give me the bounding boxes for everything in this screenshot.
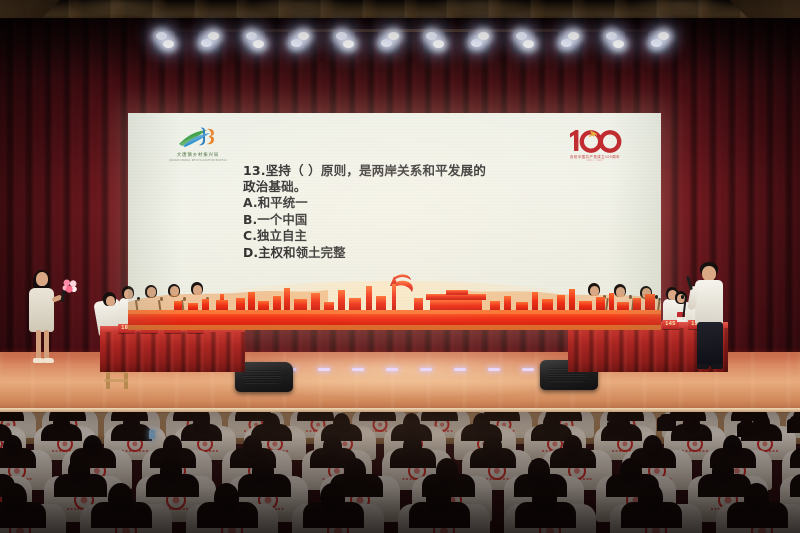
audience-member-head — [723, 435, 742, 458]
audience-member-head — [214, 483, 239, 512]
audience-member-head — [108, 483, 133, 512]
question-option-a: A.和平统一 — [243, 195, 573, 211]
cpc-centenary-100-icon — [567, 129, 623, 153]
audience-member-head — [436, 458, 458, 484]
audience-member-head — [473, 413, 490, 434]
audience-member-head — [563, 435, 582, 458]
audience-member-head — [543, 413, 560, 434]
stage-light-lamp — [208, 32, 219, 40]
emblem-subtext: 1921 — 2021 — [557, 160, 633, 162]
stage-light-lamp — [163, 40, 174, 48]
audience-member-head — [160, 458, 182, 484]
skirt-pleat-texture — [100, 332, 245, 372]
stage-light-lamp — [201, 39, 212, 47]
audience-member-head — [344, 458, 366, 484]
host-trousers — [697, 322, 723, 366]
audience-member-head — [193, 413, 210, 434]
host-shoe — [43, 358, 54, 363]
audience-member-head — [483, 435, 502, 458]
microphone-head — [681, 295, 684, 299]
stage-light-lamp — [613, 40, 624, 48]
audience-member-head — [403, 413, 420, 434]
audience-member-head — [712, 458, 734, 484]
table-skirt — [100, 332, 245, 372]
audience-member-head — [252, 458, 274, 484]
microphone-flower-decoration — [62, 278, 78, 294]
stage-light-lamp — [471, 39, 482, 47]
audience-member-head — [620, 458, 642, 484]
footlight — [488, 368, 500, 371]
footlight — [386, 368, 398, 371]
stage-light-lamp — [568, 32, 579, 40]
stage-light-lamp — [343, 40, 354, 48]
host-shirt — [695, 280, 723, 324]
stage-light-lamp — [561, 39, 572, 47]
audience-member-head — [323, 435, 342, 458]
stage-light-lamp — [433, 40, 444, 48]
audience-member-head — [683, 413, 700, 434]
footlight — [352, 368, 364, 371]
speaker-grill — [243, 370, 281, 384]
contestant-head — [106, 296, 115, 306]
question-text-block: 13.坚持（ ）原则，是两岸关系和平发展的 政治基础。 A.和平统一 B.一个中… — [243, 163, 573, 260]
footlight — [420, 368, 432, 371]
host-shoe — [711, 364, 723, 369]
stool-brace — [104, 379, 128, 382]
footlight — [522, 368, 534, 371]
footlight — [318, 368, 330, 371]
question-stem-line-2: 政治基础。 — [243, 179, 573, 195]
stage-light-lamp — [381, 39, 392, 47]
host-leg — [36, 330, 41, 360]
stage-light-lamp — [658, 32, 669, 40]
audience-member-head — [638, 483, 663, 512]
audience-member-head — [320, 483, 345, 512]
audience-member-head — [753, 413, 770, 434]
host-head — [702, 266, 716, 281]
audience-member-head — [333, 413, 350, 434]
host-leg — [44, 330, 49, 360]
audience-area — [0, 412, 800, 533]
audience-member-head — [403, 435, 422, 458]
logo-chinese-text: 大唐镇乡村振兴局 — [154, 152, 242, 158]
stage-light-lamp — [253, 40, 264, 48]
host-dress — [29, 288, 54, 332]
emblem-chinese-text: 庆祝中国共产党成立100周年 — [557, 154, 633, 159]
audience-member-head — [744, 483, 769, 512]
audience-member-head — [243, 435, 262, 458]
stage-light-lamp — [606, 32, 617, 40]
raised-hand-silhouette — [660, 414, 673, 430]
stage-light-lamp — [336, 32, 347, 40]
raised-hand-silhouette — [610, 418, 623, 434]
audience-member-head — [83, 435, 102, 458]
raised-hand-silhouette — [790, 416, 800, 432]
stage-light-lamp — [388, 32, 399, 40]
j-wave-logo-icon — [176, 125, 220, 151]
audience-phone-screen — [149, 430, 155, 439]
stage-light-lamp — [246, 32, 257, 40]
stage-light-lamp — [298, 32, 309, 40]
logo-english-text: JIANGSU RURAL REVITALIZATION BUREAU — [154, 159, 242, 162]
audience-member-head — [643, 435, 662, 458]
organization-logo: 大唐镇乡村振兴局 JIANGSU RURAL REVITALIZATION BU… — [154, 125, 242, 171]
question-option-b: B.一个中国 — [243, 212, 573, 228]
stage-light-batten — [150, 27, 690, 53]
question-stem-line-1: 13.坚持（ ）原则，是两岸关系和平发展的 — [243, 163, 573, 179]
stage-light-lamp — [478, 32, 489, 40]
audience-member-head — [2, 483, 27, 512]
screen-skyline-artwork — [128, 268, 661, 330]
answer-paper — [677, 317, 686, 322]
auditorium-stage-photo: 大唐镇乡村振兴局 JIANGSU RURAL REVITALIZATION BU… — [0, 0, 800, 533]
host-shoe — [697, 364, 709, 369]
question-option-c: C.独立自主 — [243, 228, 573, 244]
stage-light-lamp — [426, 32, 437, 40]
stage-light-lamp — [156, 32, 167, 40]
audience-member-head — [53, 413, 70, 434]
audience-member-head — [426, 483, 451, 512]
footlight-row — [250, 368, 590, 372]
question-option-d: D.主权和领土完整 — [243, 245, 573, 261]
audience-member-head — [528, 458, 550, 484]
audience-member-head — [3, 435, 22, 458]
audience-member-head — [123, 413, 140, 434]
host-head — [36, 272, 48, 286]
audience-member-head — [68, 458, 90, 484]
audience-member-head — [163, 435, 182, 458]
footlight — [454, 368, 466, 371]
stage-light-lamp — [651, 39, 662, 47]
stage-light-lamp — [523, 40, 534, 48]
stage-light-lamp — [516, 32, 527, 40]
stage-light-lamp — [291, 39, 302, 47]
audience-member-head — [532, 483, 557, 512]
led-display-screen: 大唐镇乡村振兴局 JIANGSU RURAL REVITALIZATION BU… — [128, 113, 661, 330]
audience-member-head — [263, 413, 280, 434]
raised-hand-silhouette — [740, 420, 753, 436]
